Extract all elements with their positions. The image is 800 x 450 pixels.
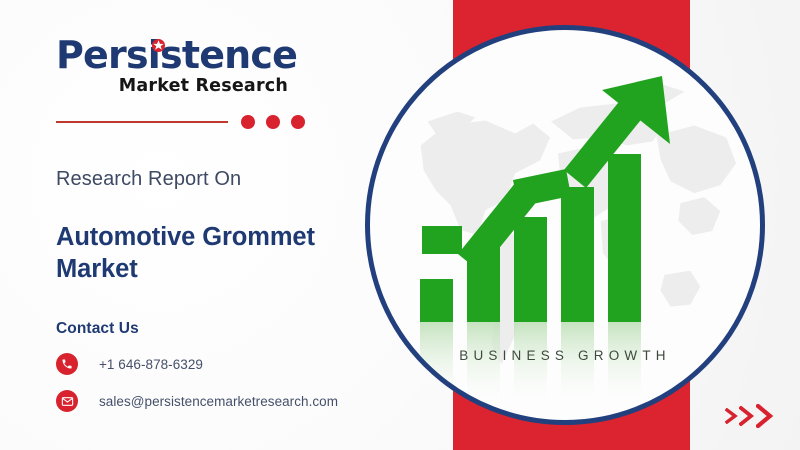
logo-tagline: Market Research [56, 76, 288, 96]
divider-line [56, 121, 228, 123]
dot-group [241, 115, 305, 129]
email-address: sales@persistencemarketresearch.com [99, 394, 338, 409]
chevron-right-icon [725, 408, 739, 424]
chevron-right-icon [756, 404, 776, 428]
accent-dot [241, 115, 255, 129]
circle-frame: BUSINESS GROWTH [365, 25, 765, 425]
divider-row [56, 115, 308, 129]
accent-dot [266, 115, 280, 129]
logo-wordmark: Persistence [56, 36, 356, 75]
star-icon [152, 39, 165, 52]
pmr-logo[interactable]: Persistence Market Research [56, 36, 356, 96]
phone-number: +1 646-878-6329 [99, 357, 203, 372]
bar-1 [420, 279, 453, 322]
envelope-icon [56, 390, 78, 412]
contact-email-row[interactable]: sales@persistencemarketresearch.com [56, 390, 420, 412]
contact-phone-row[interactable]: +1 646-878-6329 [56, 353, 420, 375]
chevron-right-icon [739, 406, 756, 426]
chevron-group [725, 404, 776, 428]
phone-icon [56, 353, 78, 375]
left-content-panel: Persistence Market Research Research Rep… [0, 0, 420, 450]
report-eyebrow: Research Report On [56, 168, 420, 191]
reflection-band [420, 320, 641, 408]
poster-canvas: BUSINESS GROWTH Persistence Market Resea… [0, 0, 800, 450]
business-growth-graphic: BUSINESS GROWTH [365, 25, 765, 425]
chart-caption: BUSINESS GROWTH [370, 348, 760, 363]
bar-2 [467, 247, 500, 322]
bar-5 [608, 154, 641, 322]
page-title: Automotive Grommet Market [56, 221, 346, 286]
bar-4 [561, 187, 594, 322]
bar-3 [514, 217, 547, 322]
contact-heading: Contact Us [56, 320, 420, 338]
accent-dot [291, 115, 305, 129]
